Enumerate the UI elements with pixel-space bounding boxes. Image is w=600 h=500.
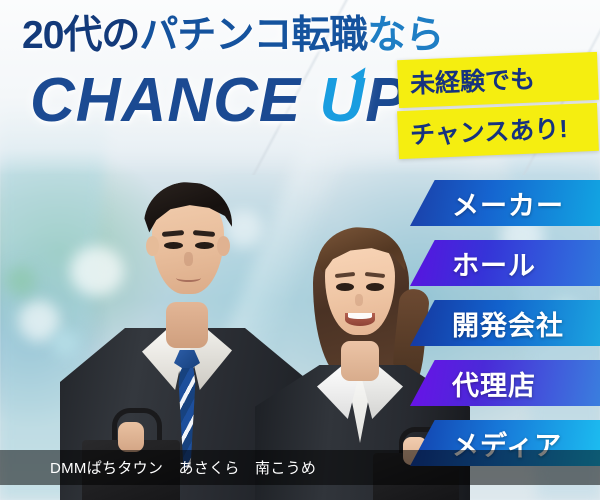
- category-button-developer[interactable]: 開発会社: [410, 300, 600, 346]
- category-label: 開発会社: [452, 304, 564, 343]
- category-button-hall[interactable]: ホール: [410, 240, 600, 286]
- category-button-maker[interactable]: メーカー: [410, 180, 600, 226]
- category-button-list: メーカー ホール 開発会社 代理店 メディア: [0, 0, 600, 500]
- advertisement-banner[interactable]: 20代のパチンコ転職なら CHANCE UP 未経験でも チャンスあり! メーカ…: [0, 0, 600, 500]
- category-label: 代理店: [452, 364, 536, 403]
- category-label: メーカー: [452, 184, 564, 223]
- credit-bar: DMMぱちタウン あさくら 南こうめ: [0, 450, 600, 485]
- category-button-agency[interactable]: 代理店: [410, 360, 600, 406]
- category-label: ホール: [452, 244, 536, 283]
- credit-text: DMMぱちタウン あさくら 南こうめ: [50, 457, 316, 478]
